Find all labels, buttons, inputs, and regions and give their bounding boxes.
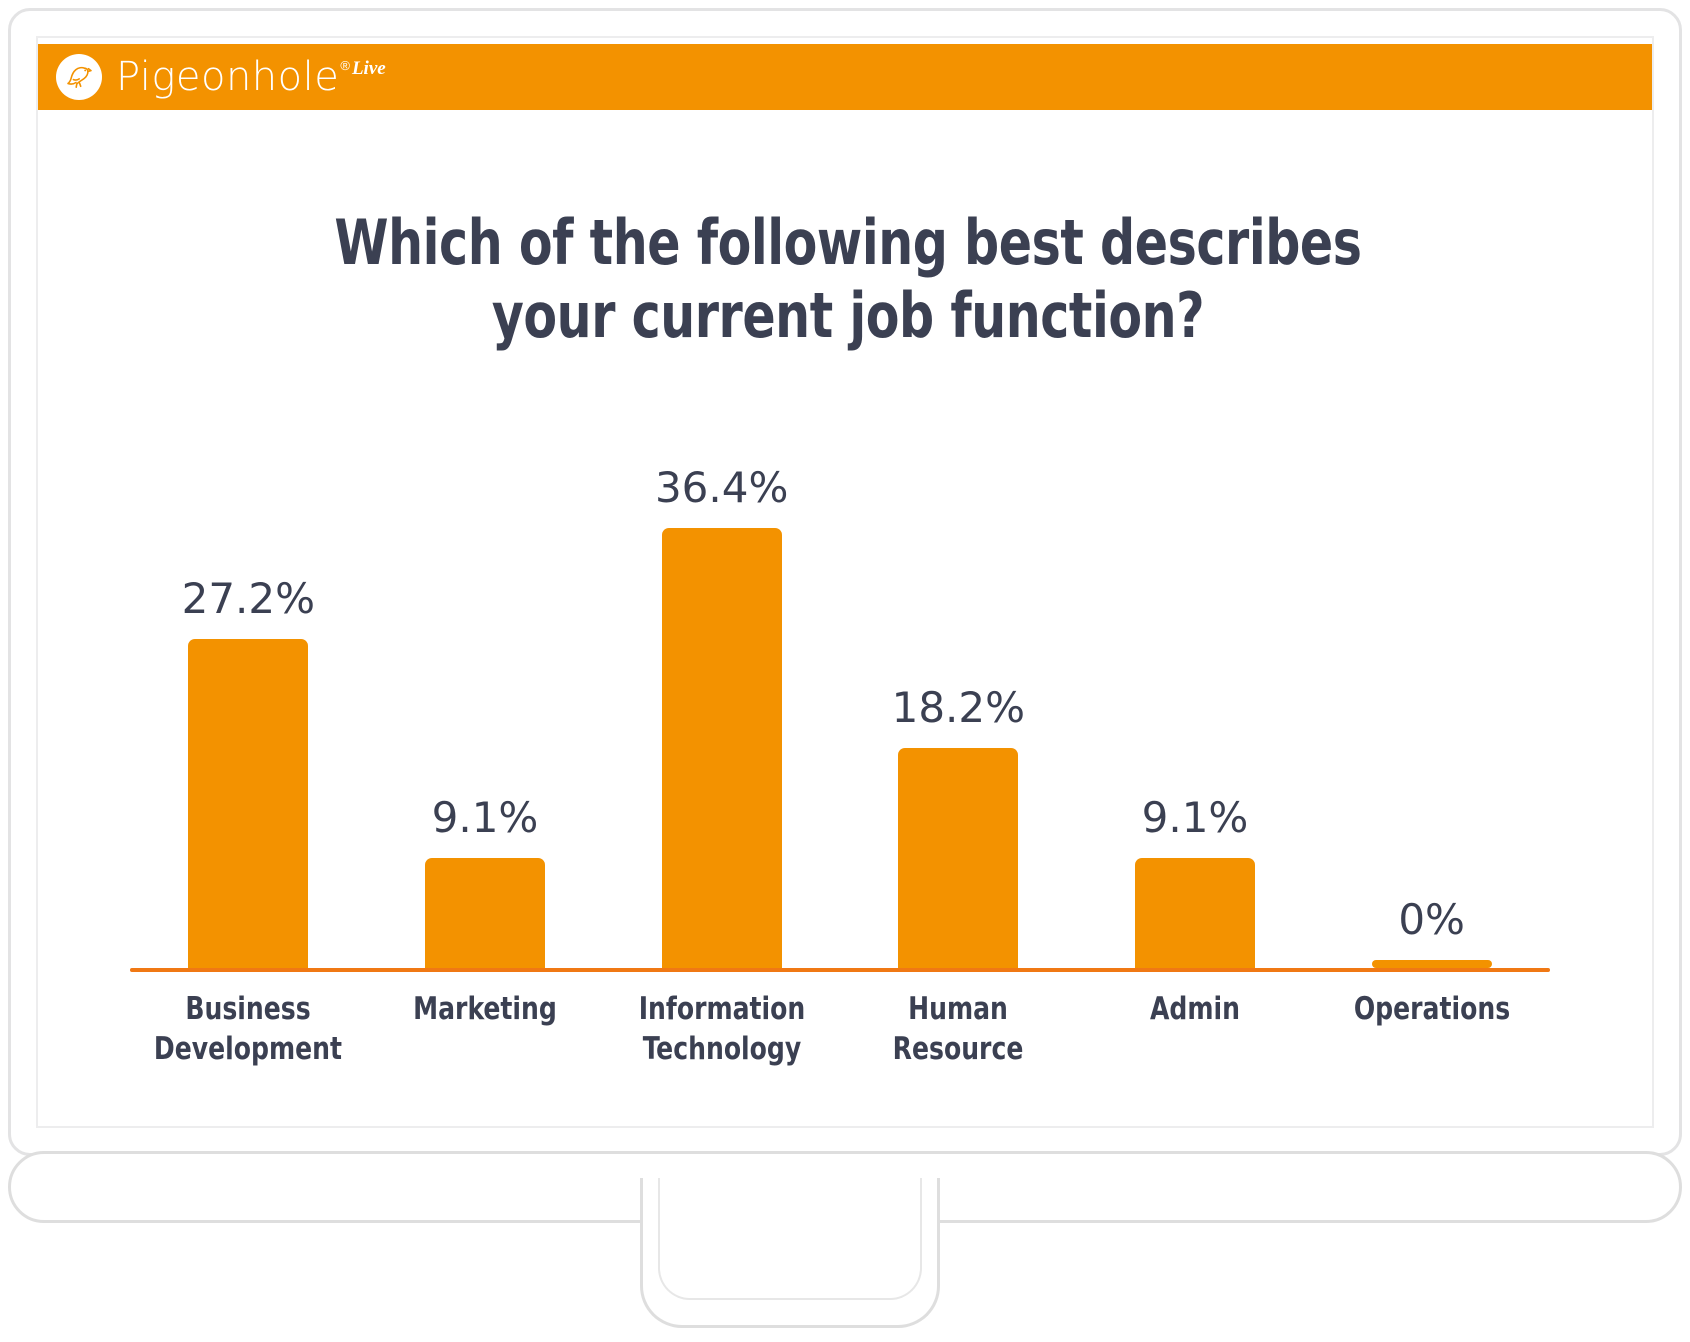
chart-bar[interactable] <box>662 528 782 968</box>
category-label-line: Marketing <box>382 990 589 1030</box>
chart-category-label: Operations <box>1328 990 1535 1030</box>
category-label-line: Resource <box>855 1030 1062 1070</box>
category-label-line: Human <box>855 990 1062 1030</box>
bar-value-label: 9.1% <box>432 793 539 842</box>
category-label-line: Information <box>618 990 825 1030</box>
chart-bar[interactable] <box>1135 858 1255 968</box>
poll-results-bar-chart: 27.2%9.1%36.4%18.2%9.1%0% BusinessDevelo… <box>98 378 1598 1078</box>
monitor-stand-inner <box>658 1178 922 1300</box>
chart-bar[interactable] <box>188 639 308 968</box>
chart-bar-group: 9.1% <box>1105 378 1285 968</box>
chart-category-label: Marketing <box>382 990 589 1030</box>
brand-suffix: Live <box>352 59 386 78</box>
chart-category-label: Admin <box>1092 990 1299 1030</box>
monitor-mockup: Pigeonhole ® Live Which of the following… <box>0 0 1690 1342</box>
chart-category-label: InformationTechnology <box>618 990 825 1069</box>
chart-bar[interactable] <box>898 748 1018 968</box>
chart-bar-group: 9.1% <box>395 378 575 968</box>
category-label-line: Business <box>145 990 352 1030</box>
brand-header-bar: Pigeonhole ® Live <box>38 44 1652 110</box>
category-label-line: Technology <box>618 1030 825 1070</box>
registered-mark: ® <box>340 59 350 72</box>
poll-question-line-2: your current job function? <box>294 279 1403 352</box>
pigeon-bird-icon <box>56 54 102 100</box>
category-label-line: Operations <box>1328 990 1535 1030</box>
brand-wordmark: Pigeonhole ® Live <box>116 57 386 97</box>
chart-bar-group: 18.2% <box>868 378 1048 968</box>
chart-category-label: HumanResource <box>855 990 1062 1069</box>
chart-plot-area: 27.2%9.1%36.4%18.2%9.1%0% <box>130 378 1550 968</box>
screen-content: Pigeonhole ® Live Which of the following… <box>38 38 1652 1126</box>
category-label-line: Development <box>145 1030 352 1070</box>
chart-baseline-axis <box>130 968 1550 972</box>
poll-question-line-1: Which of the following best describes <box>294 206 1403 279</box>
bar-value-label: 36.4% <box>655 463 788 512</box>
bar-value-label: 18.2% <box>892 683 1025 732</box>
category-label-line: Admin <box>1092 990 1299 1030</box>
chart-bar-group: 36.4% <box>632 378 812 968</box>
bar-value-label: 9.1% <box>1142 793 1249 842</box>
poll-question-title: Which of the following best describes yo… <box>294 206 1403 352</box>
chart-bar[interactable] <box>1372 960 1492 968</box>
bar-value-label: 27.2% <box>182 574 315 623</box>
brand-name: Pigeonhole <box>116 57 339 97</box>
chart-bar[interactable] <box>425 858 545 968</box>
chart-category-label: BusinessDevelopment <box>145 990 352 1069</box>
chart-bar-group: 27.2% <box>158 378 338 968</box>
chart-bar-group: 0% <box>1342 378 1522 968</box>
bar-value-label: 0% <box>1398 895 1465 944</box>
